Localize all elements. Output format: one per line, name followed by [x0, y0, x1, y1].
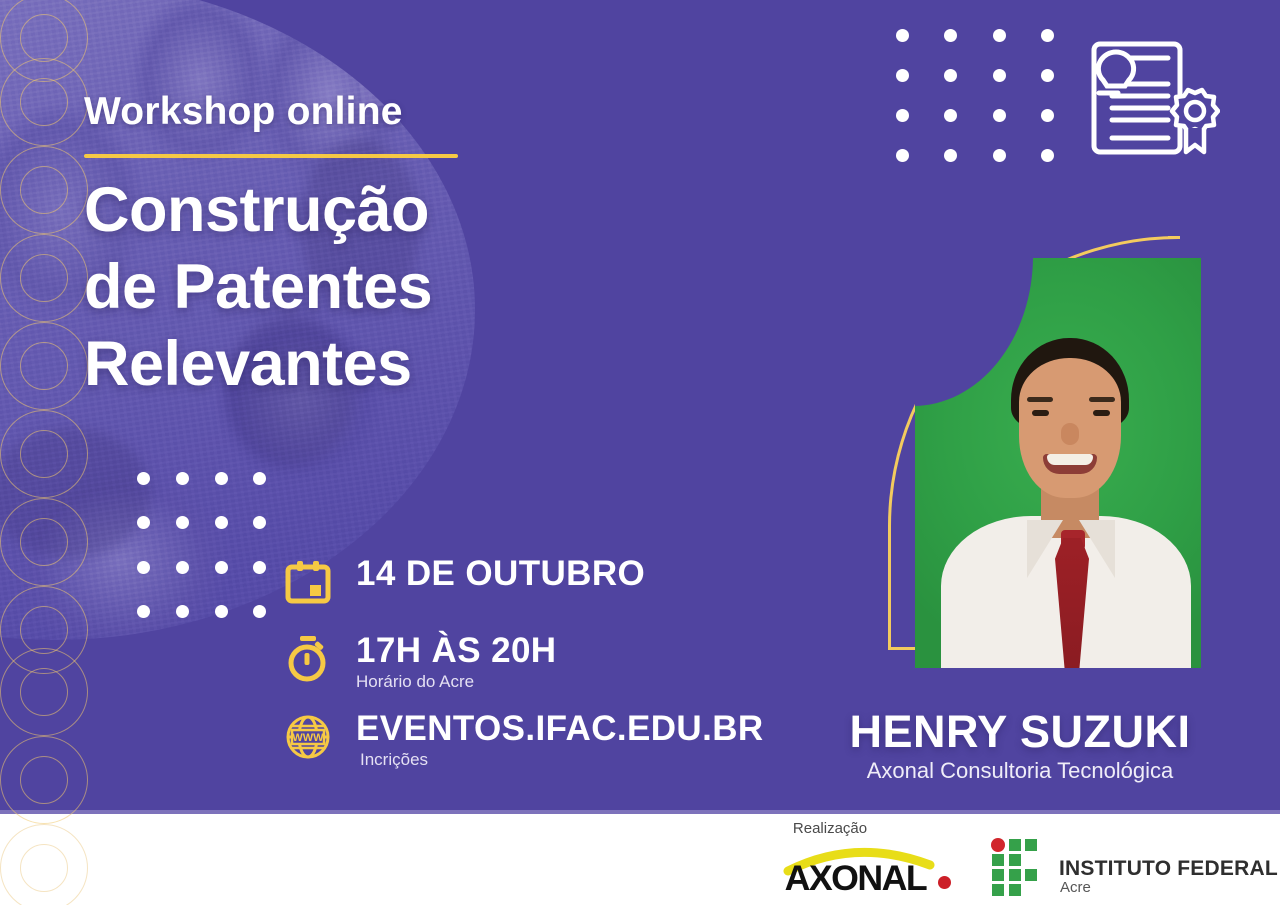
speaker-photo [915, 258, 1201, 668]
gold-divider [84, 154, 458, 158]
headline-block: Workshop online Construção de Patentes R… [84, 92, 604, 403]
poster-title-line-3: Relevantes [84, 326, 604, 403]
instituto-federal-logo-mark [991, 838, 1053, 898]
speaker-eye-left [1032, 410, 1049, 416]
event-time-value: 17H ÀS 20H [356, 633, 556, 670]
event-date-value: 14 DE OUTUBRO [356, 556, 645, 593]
axonal-logo: AXONAL [778, 845, 968, 899]
speaker-brow-right [1089, 397, 1115, 402]
poster-title-line-1: Construção [84, 172, 604, 249]
event-poster: Workshop online Construção de Patentes R… [0, 0, 1280, 905]
event-url-value[interactable]: EVENTOS.IFAC.EDU.BR [356, 711, 764, 748]
speaker-teeth [1047, 454, 1093, 465]
dot-grid-top-right [896, 29, 1060, 169]
speaker-eye-right [1093, 410, 1110, 416]
speaker-frame-arc-top-cap [1168, 236, 1180, 239]
speaker-brow-left [1027, 397, 1053, 402]
instituto-federal-campus: Acre [1060, 879, 1091, 896]
axonal-wordmark: AXONAL [785, 859, 927, 899]
speaker-nose [1061, 423, 1079, 445]
poster-title-line-2: de Patentes [84, 249, 604, 326]
event-date-row: 14 DE OUTUBRO [278, 552, 764, 612]
speaker-name: HENRY SUZUKI [760, 706, 1280, 758]
poster-kicker: Workshop online [84, 92, 604, 131]
instituto-federal-name: INSTITUTO FEDERAL [1059, 857, 1278, 881]
realizacao-label: Realização [760, 820, 900, 837]
event-timezone-note: Horário do Acre [356, 673, 556, 690]
stopwatch-icon [278, 629, 338, 689]
dot-grid-left [137, 472, 269, 618]
event-url-note: Incrições [360, 751, 764, 768]
event-url-text: EVENTOS.IFAC.EDU.BR Incrições [338, 707, 764, 768]
event-time-text: 17H ÀS 20H Horário do Acre [338, 629, 556, 690]
event-time-row: 17H ÀS 20H Horário do Acre [278, 629, 764, 690]
speaker-mouth [1043, 454, 1097, 474]
speaker-role: Axonal Consultoria Tecnológica [760, 758, 1280, 784]
axonal-red-dot [938, 876, 951, 889]
svg-text:WWW: WWW [292, 732, 324, 744]
globe-www-icon: WWW [278, 707, 338, 767]
patent-certificate-icon [1078, 28, 1220, 168]
event-url-row[interactable]: WWW EVENTOS.IFAC.EDU.BR Incrições [278, 707, 764, 768]
calendar-icon [278, 552, 338, 612]
event-date-text: 14 DE OUTUBRO [338, 552, 645, 593]
event-details: 14 DE OUTUBRO 17H ÀS 20H Horário do Acre [278, 552, 764, 785]
